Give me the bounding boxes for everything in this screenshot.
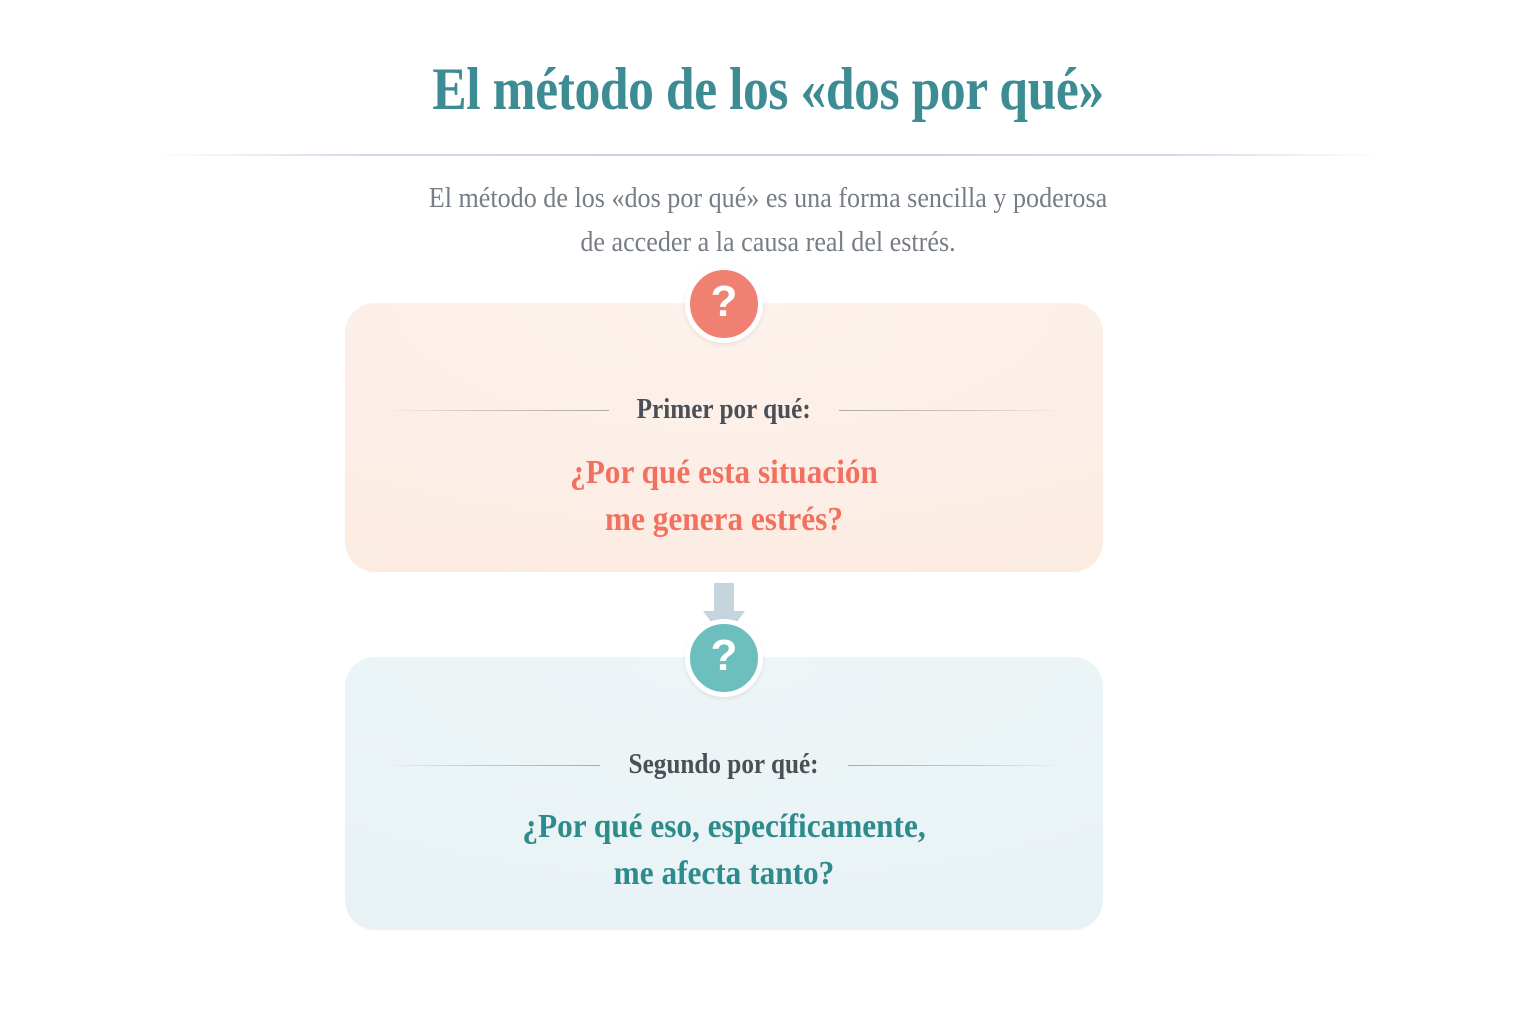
arrow-stem (714, 583, 734, 613)
card-primer-por-que: ? Primer por qué: ¿Por qué esta situació… (345, 303, 1103, 572)
card-label-row-segundo: Segundo por qué: (385, 751, 1063, 779)
subtitle: El método de los «dos por qué» es una fo… (318, 176, 1218, 264)
label-rule-left (385, 410, 609, 411)
card-label-primer: Primer por qué: (637, 396, 811, 424)
subtitle-line-2: de acceder a la causa real del estrés. (318, 220, 1218, 264)
infographic-page: El método de los «dos por qué» El método… (0, 0, 1536, 1024)
question-line-2: me genera estrés? (412, 496, 1036, 543)
question-line-2: me afecta tanto? (412, 850, 1036, 897)
card-question-segundo: ¿Por qué eso, específicamente, me afecta… (385, 803, 1063, 897)
subtitle-line-1: El método de los «dos por qué» es una fo… (318, 176, 1218, 220)
page-title: El método de los «dos por qué» (108, 58, 1429, 121)
question-line-1: ¿Por qué esta situación (412, 449, 1036, 496)
question-mark-badge-icon: ? (685, 265, 763, 343)
label-rule-right (839, 410, 1063, 411)
title-divider (152, 154, 1384, 156)
card-label-row-primer: Primer por qué: (385, 396, 1063, 424)
card-question-primer: ¿Por qué esta situación me genera estrés… (385, 449, 1063, 543)
question-line-1: ¿Por qué eso, específicamente, (412, 803, 1036, 850)
label-rule-right (848, 765, 1063, 766)
label-rule-left (385, 765, 600, 766)
card-segundo-por-que: ? Segundo por qué: ¿Por qué eso, específ… (345, 657, 1103, 930)
card-label-segundo: Segundo por qué: (629, 751, 819, 779)
question-mark-badge-icon: ? (685, 619, 763, 697)
